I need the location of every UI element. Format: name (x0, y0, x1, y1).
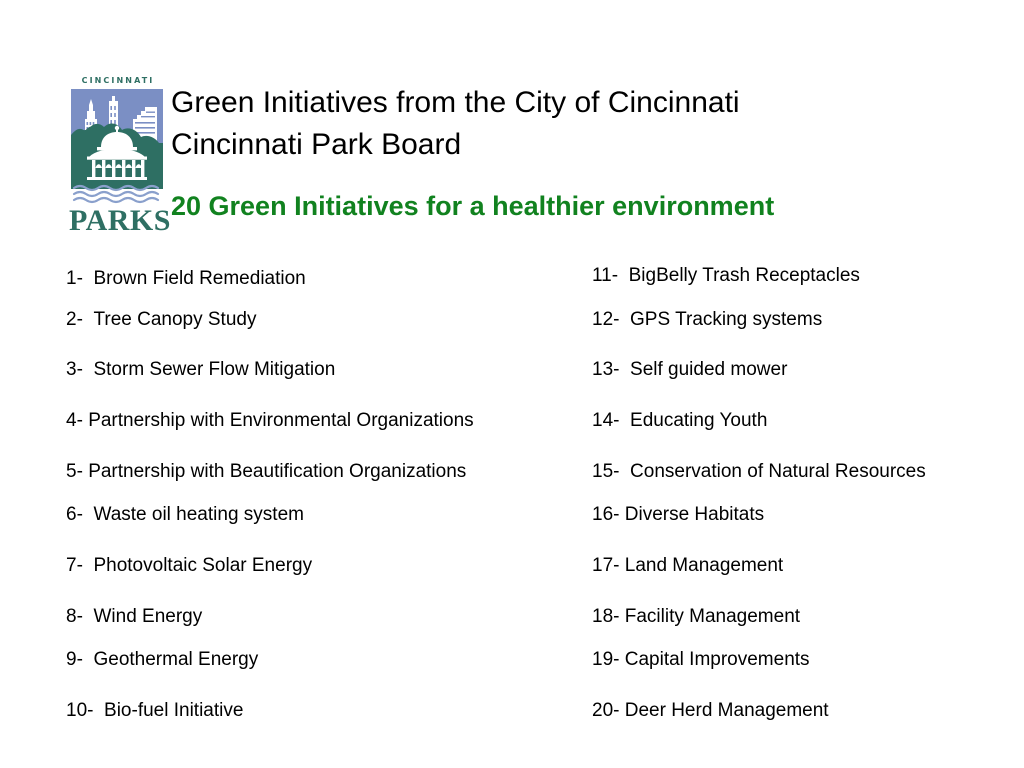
list-item: 15- Conservation of Natural Resources (592, 460, 926, 484)
list-item-number: 6- (66, 503, 83, 527)
logo-artwork-icon (71, 89, 163, 205)
list-item: 11- BigBelly Trash Receptacles (592, 264, 860, 288)
list-item-label: Land Management (625, 555, 783, 576)
list-item-number: 11- (592, 264, 618, 288)
list-item-label: Storm Sewer Flow Mitigation (93, 359, 335, 380)
list-item: 20- Deer Herd Management (592, 699, 829, 723)
list-item-label: Deer Herd Management (625, 700, 829, 721)
list-item-spacer (83, 555, 94, 576)
list-item: 4- Partnership with Environmental Organi… (66, 409, 474, 433)
list-item: 14- Educating Youth (592, 409, 767, 433)
list-item-label: Brown Field Remediation (93, 268, 305, 289)
title-line-1: Green Initiatives from the City of Cinci… (171, 82, 991, 124)
list-item-number: 1- (66, 267, 83, 291)
list-item: 12- GPS Tracking systems (592, 308, 822, 332)
list-item-number: 7- (66, 554, 83, 578)
list-item-label: Bio-fuel Initiative (104, 700, 243, 721)
list-item-number: 2- (66, 308, 83, 332)
page-title: Green Initiatives from the City of Cinci… (171, 82, 991, 166)
list-item-label: Conservation of Natural Resources (630, 461, 926, 482)
page-subtitle: 20 Green Initiatives for a healthier env… (171, 190, 774, 222)
list-item-spacer (619, 461, 630, 482)
list-item-label: Educating Youth (630, 410, 767, 431)
list-item-number: 4- (66, 409, 83, 433)
list-item: 18- Facility Management (592, 605, 800, 629)
title-line-2: Cincinnati Park Board (171, 124, 991, 166)
list-item: 9- Geothermal Energy (66, 648, 258, 672)
list-item-number: 12- (592, 308, 619, 332)
list-item-spacer (619, 309, 630, 330)
list-item: 3- Storm Sewer Flow Mitigation (66, 358, 335, 382)
list-item-number: 18- (592, 605, 619, 629)
list-item-number: 17- (592, 554, 619, 578)
list-item-spacer (619, 410, 630, 431)
list-item-number: 15- (592, 460, 619, 484)
list-item-spacer (83, 649, 94, 670)
list-item-label: Diverse Habitats (625, 504, 764, 525)
list-item: 8- Wind Energy (66, 605, 202, 629)
list-item-number: 20- (592, 699, 619, 723)
list-item-label: Partnership with Beautification Organiza… (88, 461, 466, 482)
list-item-spacer (93, 700, 104, 721)
list-item-number: 5- (66, 460, 83, 484)
list-item-spacer (619, 359, 630, 380)
list-item-number: 14- (592, 409, 619, 433)
list-item-spacer (83, 606, 94, 627)
list-item-label: Partnership with Environmental Organizat… (88, 410, 473, 431)
list-item-spacer (83, 268, 94, 289)
list-item-label: Capital Improvements (625, 649, 810, 670)
list-item-label: Tree Canopy Study (93, 309, 256, 330)
list-item-number: 8- (66, 605, 83, 629)
list-item: 19- Capital Improvements (592, 648, 810, 672)
logo-cincinnati-text: CINCINNATI (69, 76, 165, 86)
list-item-number: 16- (592, 503, 619, 527)
list-item-spacer (618, 265, 629, 286)
list-item-label: BigBelly Trash Receptacles (629, 265, 860, 286)
list-item: 13- Self guided mower (592, 358, 787, 382)
list-item-number: 9- (66, 648, 83, 672)
list-item-spacer (83, 359, 94, 380)
list-item-number: 10- (66, 699, 93, 723)
list-item-number: 3- (66, 358, 83, 382)
list-item: 10- Bio-fuel Initiative (66, 699, 243, 723)
slide-header: CINCINNATI (0, 0, 1024, 250)
list-item-spacer (83, 504, 94, 525)
list-item: 16- Diverse Habitats (592, 503, 764, 527)
list-item-label: Photovoltaic Solar Energy (93, 555, 312, 576)
list-item-label: Self guided mower (630, 359, 787, 380)
list-item: 2- Tree Canopy Study (66, 308, 256, 332)
initiatives-list: 1- Brown Field Remediation2- Tree Canopy… (0, 250, 1024, 750)
list-item: 5- Partnership with Beautification Organ… (66, 460, 466, 484)
list-item-label: Facility Management (625, 606, 800, 627)
list-item-number: 13- (592, 358, 619, 382)
cincinnati-parks-logo: CINCINNATI (69, 76, 165, 242)
list-item: 17- Land Management (592, 554, 783, 578)
list-item-label: Wind Energy (93, 606, 202, 627)
list-item-label: Geothermal Energy (93, 649, 258, 670)
slide-canvas: CINCINNATI (0, 0, 1024, 768)
list-item-spacer (83, 309, 94, 330)
logo-parks-text: PARKS (69, 205, 165, 237)
list-item-label: Waste oil heating system (93, 504, 304, 525)
list-item-number: 19- (592, 648, 619, 672)
list-item: 1- Brown Field Remediation (66, 267, 306, 291)
list-item: 7- Photovoltaic Solar Energy (66, 554, 312, 578)
list-item: 6- Waste oil heating system (66, 503, 304, 527)
list-item-label: GPS Tracking systems (630, 309, 822, 330)
